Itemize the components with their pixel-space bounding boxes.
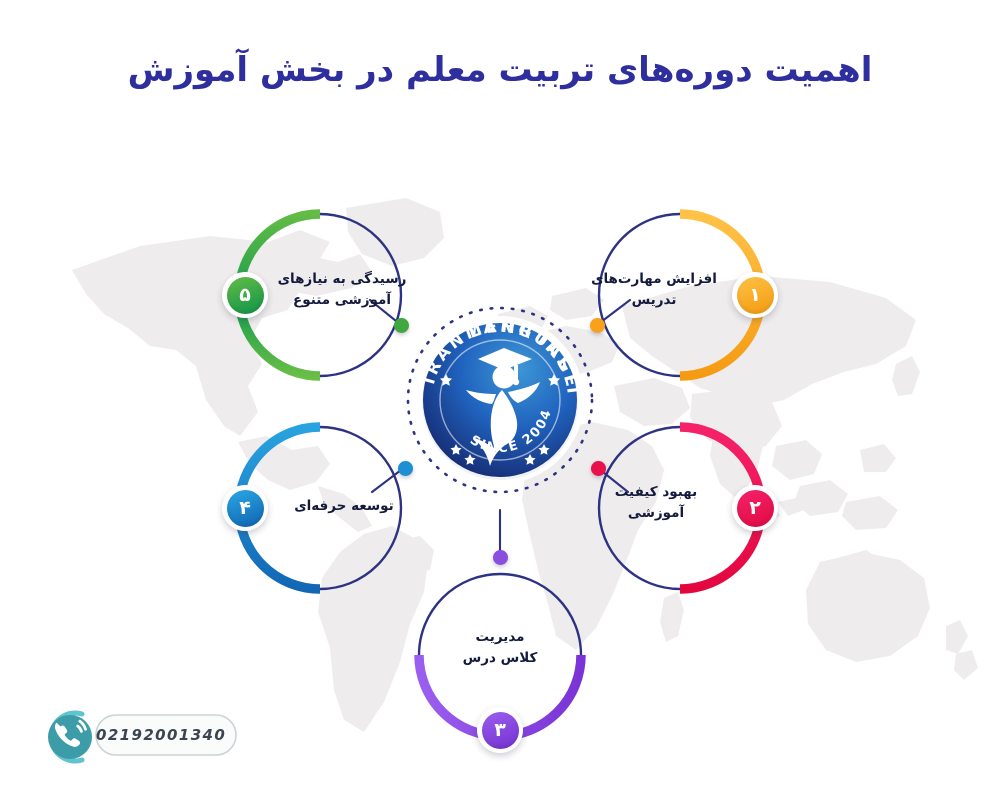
node-1-label: افزایش مهارت‌های تدریس [584,269,724,311]
node-5-badge[interactable]: ۵ [222,272,268,318]
node-2-label: بهبود کیفیت آموزشی [586,482,726,524]
phone-icon-disc [48,715,92,759]
node-4-number: ۴ [227,490,264,527]
phone-number-text[interactable]: 02192001340 [96,726,226,744]
node-3-connector-dot [493,550,508,565]
node-5[interactable]: ۵ رسیدگی به نیازهای آموزشی متنوع [230,205,410,385]
node-2-badge[interactable]: ۲ [732,485,778,531]
node-1-number: ۱ [737,277,774,314]
node-3-label: مدیریت کلاس درس [430,627,570,669]
page-title: اهمیت دوره‌های تربیت معلم در بخش آموزش [0,48,1000,94]
page-title-text: اهمیت دوره‌های تربیت معلم در بخش آموزش [128,48,873,94]
node-5-number: ۵ [227,277,264,314]
center-logo: IRANMEHR LANGUAGE INSTITUTE SINCE 2004 [404,304,596,496]
node-4-badge[interactable]: ۴ [222,485,268,531]
node-1-badge[interactable]: ۱ [732,272,778,318]
node-3-number: ۳ [482,712,519,749]
node-4[interactable]: ۴ توسعه حرفه‌ای [230,418,410,598]
node-5-label: رسیدگی به نیازهای آموزشی متنوع [272,269,412,311]
node-2-number: ۲ [737,490,774,527]
node-2[interactable]: ۲ بهبود کیفیت آموزشی [590,418,770,598]
node-3-badge[interactable]: ۳ [477,707,523,753]
node-4-label: توسعه حرفه‌ای [274,496,414,517]
infographic-canvas: اهمیت دوره‌های تربیت معلم در بخش آموزش [0,0,1000,800]
node-1[interactable]: ۱ افزایش مهارت‌های تدریس [590,205,770,385]
node-3[interactable]: ۳ مدیریت کلاس درس [410,565,590,745]
